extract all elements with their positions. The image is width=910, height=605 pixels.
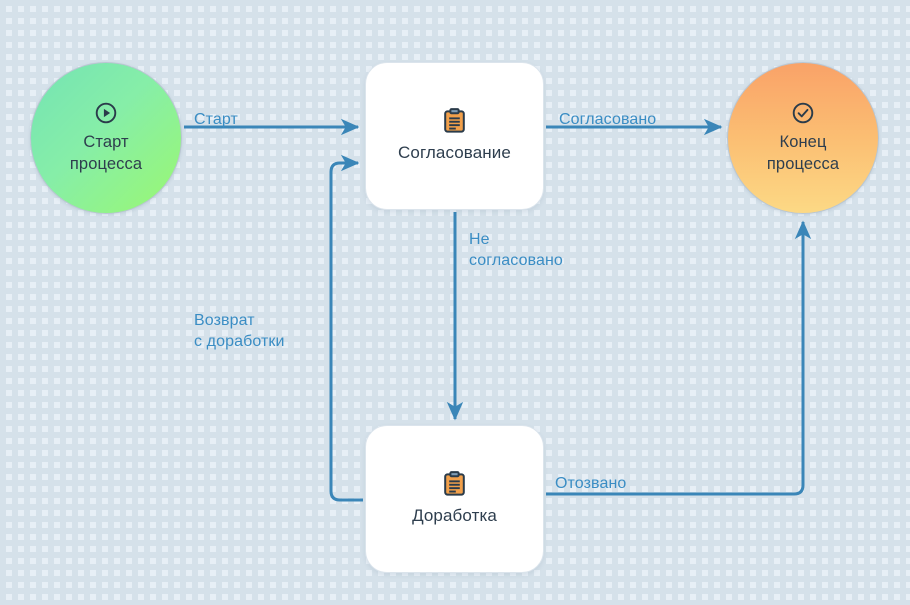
clipboard-icon: [443, 108, 466, 133]
node-start-process-label: Старт процесса: [70, 132, 142, 174]
edge-rework-to-approval[interactable]: [331, 163, 363, 500]
clipboard-icon: [443, 471, 466, 496]
node-rework[interactable]: Доработка: [365, 425, 544, 573]
node-end-process-label: Конец процесса: [767, 132, 839, 174]
check-circle-icon: [791, 101, 815, 125]
node-start-process[interactable]: Старт процесса: [30, 62, 182, 214]
node-end-process[interactable]: Конец процесса: [727, 62, 879, 214]
edge-label-agreed: Согласовано: [559, 109, 656, 130]
node-approval-label: Согласование: [398, 142, 511, 164]
play-circle-icon: [94, 101, 118, 125]
edge-label-recalled: Отозвано: [555, 473, 626, 494]
edge-label-return-from-rework: Возврат с доработки: [194, 310, 285, 352]
edge-rework-to-end[interactable]: [546, 222, 803, 494]
edge-label-not-agreed: Не согласовано: [469, 229, 563, 271]
node-rework-label: Доработка: [412, 505, 497, 527]
edge-label-start: Старт: [194, 109, 238, 130]
node-approval[interactable]: Согласование: [365, 62, 544, 210]
diagram-canvas[interactable]: Старт Согласовано Не согласовано Возврат…: [0, 0, 910, 605]
